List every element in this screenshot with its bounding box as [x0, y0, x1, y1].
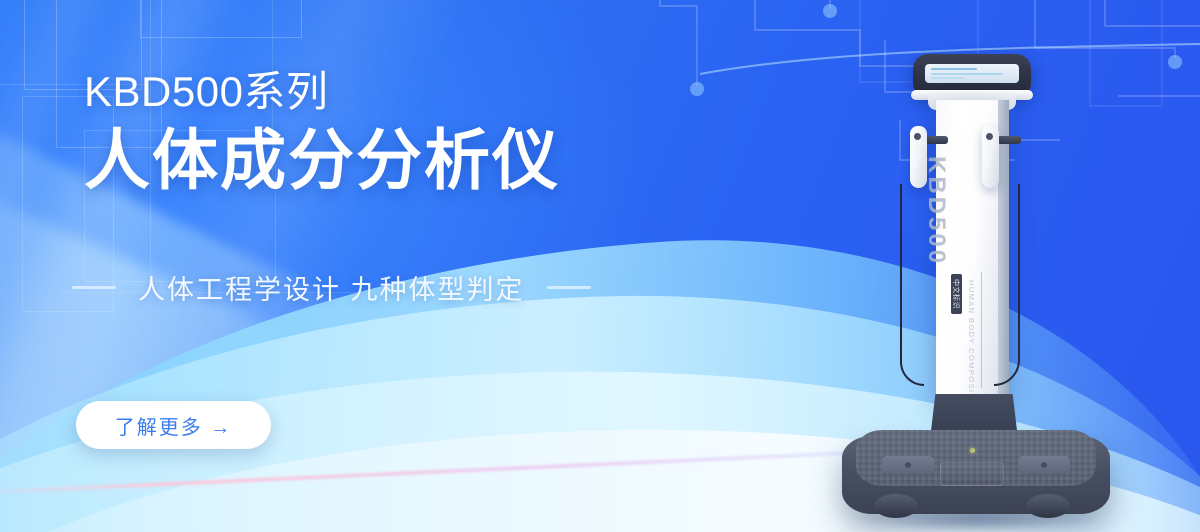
device-hand-grip-left — [910, 126, 927, 188]
learn-more-label: 了解更多 → — [115, 411, 233, 440]
device-leveling-foot-left — [874, 494, 918, 518]
device-illustration: KBD500 中文标识 HUMAN BODY COMPOSITION ANALY… — [830, 44, 1150, 524]
device-leveling-foot-right — [1026, 494, 1070, 518]
device-hand-grip-right — [982, 126, 999, 188]
dash-right-icon — [547, 286, 591, 289]
learn-more-button[interactable]: 了解更多 → — [76, 401, 271, 449]
device-cable-left — [900, 184, 924, 386]
device-center-plate — [940, 462, 1004, 486]
hero-subtitle-row: 人体工程学设计 九种体型判定 — [72, 268, 672, 307]
device-foot-electrode-right — [1018, 456, 1070, 474]
dash-left-icon — [72, 286, 116, 289]
hero-subtitle: 人体工程学设计 九种体型判定 — [138, 268, 525, 307]
device-column-rule — [981, 272, 982, 388]
device-arm-right — [997, 136, 1021, 144]
device-foot-electrode-left — [882, 456, 934, 474]
bg-left-glow-b — [0, 187, 348, 532]
device-cable-right — [994, 184, 1020, 386]
device-badge: 中文标识 — [951, 274, 962, 314]
hero-eyebrow: KBD500系列 — [84, 70, 724, 114]
hero-banner: KBD500 中文标识 HUMAN BODY COMPOSITION ANALY… — [0, 0, 1200, 532]
device-arm-left — [924, 136, 948, 144]
device-screen — [925, 64, 1019, 83]
decor-rect-3 — [140, 0, 302, 38]
hero-copy: KBD500系列 人体成分分析仪 — [84, 70, 724, 196]
device-led-indicator — [970, 448, 975, 453]
page-title: 人体成分分析仪 — [84, 126, 724, 196]
